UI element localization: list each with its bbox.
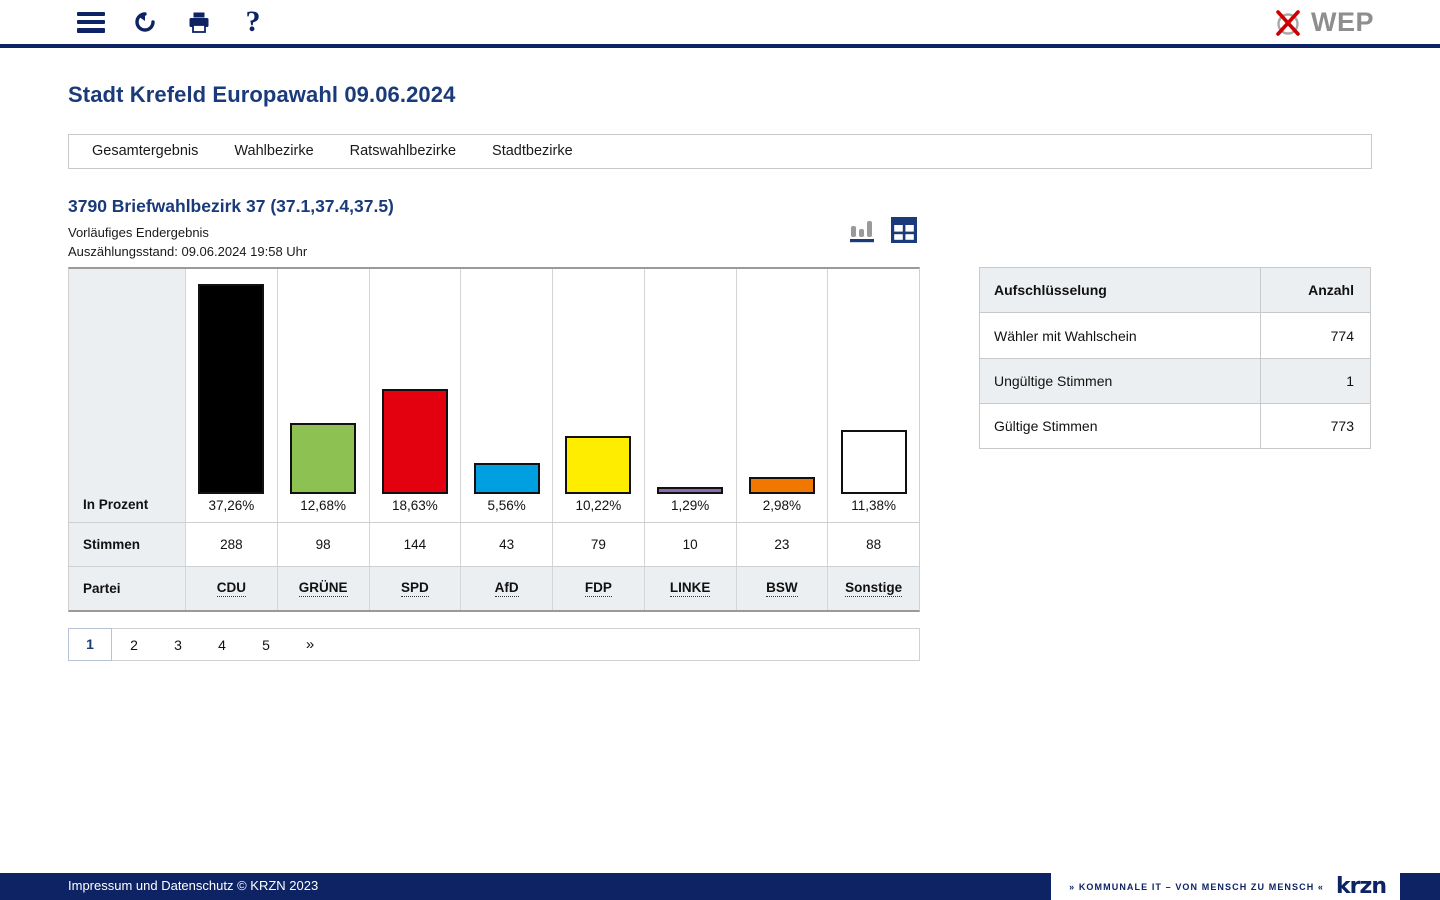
breakdown-rows: Wähler mit Wahlschein774Ungültige Stimme… (980, 313, 1370, 448)
bar-cell-cdu: 37,26% (186, 269, 278, 522)
reload-icon[interactable] (118, 2, 172, 42)
party-link-bsw[interactable]: BSW (766, 580, 798, 597)
breakdown-row-value: 773 (1260, 404, 1370, 448)
bar-percent-label: 1,29% (671, 494, 709, 522)
votes-container: 288981444379102388 (186, 523, 919, 566)
bar-percent-label: 10,22% (575, 494, 621, 522)
krzn-badge: » KOMMUNALE IT – VON MENSCH ZU MENSCH « … (1051, 873, 1400, 900)
votes-cell-fdp: 79 (553, 523, 645, 566)
bar-percent-label: 18,63% (392, 494, 438, 522)
party-link-afd[interactable]: AfD (495, 580, 519, 597)
bar-chart-view-icon-glyph (849, 215, 875, 243)
party-cell-fdp[interactable]: FDP (553, 567, 645, 610)
bar-percent-label: 2,98% (763, 494, 801, 522)
table-view-icon[interactable] (891, 217, 917, 248)
breakdown-row-value: 1 (1260, 359, 1370, 403)
bar-percent-label: 11,38% (851, 494, 896, 522)
brand-logo-group: WEP (1273, 7, 1374, 38)
result-counted-at: Auszählungsstand: 09.06.2024 19:58 Uhr (68, 244, 307, 259)
breakdown-table: Aufschlüsselung Anzahl Wähler mit Wahlsc… (979, 267, 1371, 449)
page-title: Stadt Krefeld Europawahl 09.06.2024 (68, 82, 455, 108)
breakdown-row-key: Wähler mit Wahlschein (980, 328, 1260, 344)
breakdown-row-key: Gültige Stimmen (980, 418, 1260, 434)
pagination-items: 12345» (69, 629, 332, 661)
breakdown-row-key: Ungültige Stimmen (980, 373, 1260, 389)
chart-row-label-cell: In Prozent (69, 269, 186, 522)
bar-spd (382, 389, 448, 494)
result-title: 3790 Briefwahlbezirk 37 (37.1,37.4,37.5) (68, 196, 394, 217)
print-icon-glyph (185, 8, 213, 36)
app-root: ? WEP Stadt Krefeld Europawahl 09.06.202… (0, 0, 1440, 900)
party-cell-cdu[interactable]: CDU (186, 567, 278, 610)
bar-bsw (749, 477, 815, 494)
party-cell-grüne[interactable]: GRÜNE (278, 567, 370, 610)
wep-logo-icon (1273, 8, 1303, 38)
toolbar-icon-group: ? (64, 2, 280, 42)
menu-icon[interactable] (64, 2, 118, 42)
bars-container: 37,26%12,68%18,63%5,56%10,22%1,29%2,98%1… (186, 269, 919, 522)
party-link-spd[interactable]: SPD (401, 580, 429, 597)
help-icon[interactable]: ? (226, 2, 280, 42)
tab-gesamtergebnis[interactable]: Gesamtergebnis (79, 135, 211, 168)
breakdown-row: Ungültige Stimmen1 (980, 358, 1370, 403)
bar-cell-fdp: 10,22% (553, 269, 645, 522)
votes-cell-sonstige: 88 (828, 523, 919, 566)
brand-name: WEP (1311, 7, 1374, 38)
pagination-page-5[interactable]: 5 (244, 629, 288, 660)
breakdown-header-key: Aufschlüsselung (980, 282, 1260, 298)
party-cell-bsw[interactable]: BSW (737, 567, 829, 610)
tab-stadtbezirke[interactable]: Stadtbezirke (479, 135, 586, 168)
bar-grüne (290, 423, 356, 494)
tab-ratswahlbezirke[interactable]: Ratswahlbezirke (337, 135, 469, 168)
bar-percent-label: 12,68% (300, 494, 346, 522)
view-toggle-group (849, 215, 917, 248)
party-cell-sonstige[interactable]: Sonstige (828, 567, 919, 610)
party-link-linke[interactable]: LINKE (670, 580, 711, 597)
votes-cell-grüne: 98 (278, 523, 370, 566)
party-link-fdp[interactable]: FDP (585, 580, 612, 597)
top-toolbar: ? WEP (0, 0, 1440, 48)
footer: Impressum und Datenschutz © KRZN 2023 » … (0, 873, 1440, 900)
krzn-logo: krzn (1336, 876, 1386, 898)
votes-cell-linke: 10 (645, 523, 737, 566)
party-cell-linke[interactable]: LINKE (645, 567, 737, 610)
bar-linke (657, 487, 723, 494)
party-cell-spd[interactable]: SPD (370, 567, 462, 610)
pagination-page-3[interactable]: 3 (156, 629, 200, 660)
tab-bar: Gesamtergebnis Wahlbezirke Ratswahlbezir… (68, 134, 1372, 169)
party-cell-afd[interactable]: AfD (461, 567, 553, 610)
print-icon[interactable] (172, 2, 226, 42)
bar-cell-afd: 5,56% (461, 269, 553, 522)
party-link-grüne[interactable]: GRÜNE (299, 580, 348, 597)
party-link-sonstige[interactable]: Sonstige (845, 580, 902, 597)
bar-cell-spd: 18,63% (370, 269, 462, 522)
reload-icon-glyph (131, 8, 159, 36)
votes-cell-afd: 43 (461, 523, 553, 566)
bar-sonstige (841, 430, 907, 494)
help-icon-glyph: ? (246, 7, 261, 37)
bar-percent-label: 37,26% (208, 494, 254, 522)
bar-cdu (198, 284, 264, 494)
party-container: CDUGRÜNESPDAfDFDPLINKEBSWSonstige (186, 567, 919, 610)
bar-chart-view-icon[interactable] (849, 215, 875, 248)
party-row-label: Partei (69, 567, 186, 610)
table-view-icon-glyph (891, 217, 917, 243)
pagination-next[interactable]: » (288, 629, 332, 660)
breakdown-row-value: 774 (1260, 313, 1370, 358)
results-chart-table: In Prozent 37,26%12,68%18,63%5,56%10,22%… (68, 267, 920, 612)
bar-cell-grüne: 12,68% (278, 269, 370, 522)
breakdown-header-value: Anzahl (1260, 268, 1370, 312)
breakdown-header-row: Aufschlüsselung Anzahl (980, 268, 1370, 313)
pagination-page-4[interactable]: 4 (200, 629, 244, 660)
tab-wahlbezirke[interactable]: Wahlbezirke (221, 135, 326, 168)
bar-cell-bsw: 2,98% (737, 269, 829, 522)
pagination-page-1[interactable]: 1 (68, 628, 112, 661)
party-row: Partei CDUGRÜNESPDAfDFDPLINKEBSWSonstige (69, 566, 919, 610)
votes-row: Stimmen 288981444379102388 (69, 522, 919, 566)
result-status: Vorläufiges Endergebnis (68, 225, 209, 240)
votes-row-label: Stimmen (69, 523, 186, 566)
footer-impressum-link[interactable]: Impressum und Datenschutz © KRZN 2023 (68, 878, 318, 893)
pagination: 12345» (68, 628, 920, 661)
krzn-badge-claim: » KOMMUNALE IT – VON MENSCH ZU MENSCH « (1069, 882, 1324, 892)
party-link-cdu[interactable]: CDU (217, 580, 246, 597)
bar-afd (474, 463, 540, 494)
breakdown-row: Wähler mit Wahlschein774 (980, 313, 1370, 358)
chart-row-label: In Prozent (83, 497, 148, 512)
bar-cell-linke: 1,29% (645, 269, 737, 522)
votes-cell-spd: 144 (370, 523, 462, 566)
votes-cell-bsw: 23 (737, 523, 829, 566)
breakdown-row: Gültige Stimmen773 (980, 403, 1370, 448)
bar-percent-label: 5,56% (487, 494, 525, 522)
bar-cell-sonstige: 11,38% (828, 269, 919, 522)
pagination-page-2[interactable]: 2 (112, 629, 156, 660)
bar-fdp (565, 436, 631, 494)
menu-icon-glyph (77, 12, 105, 33)
chart-row: In Prozent 37,26%12,68%18,63%5,56%10,22%… (69, 269, 919, 522)
votes-cell-cdu: 288 (186, 523, 278, 566)
